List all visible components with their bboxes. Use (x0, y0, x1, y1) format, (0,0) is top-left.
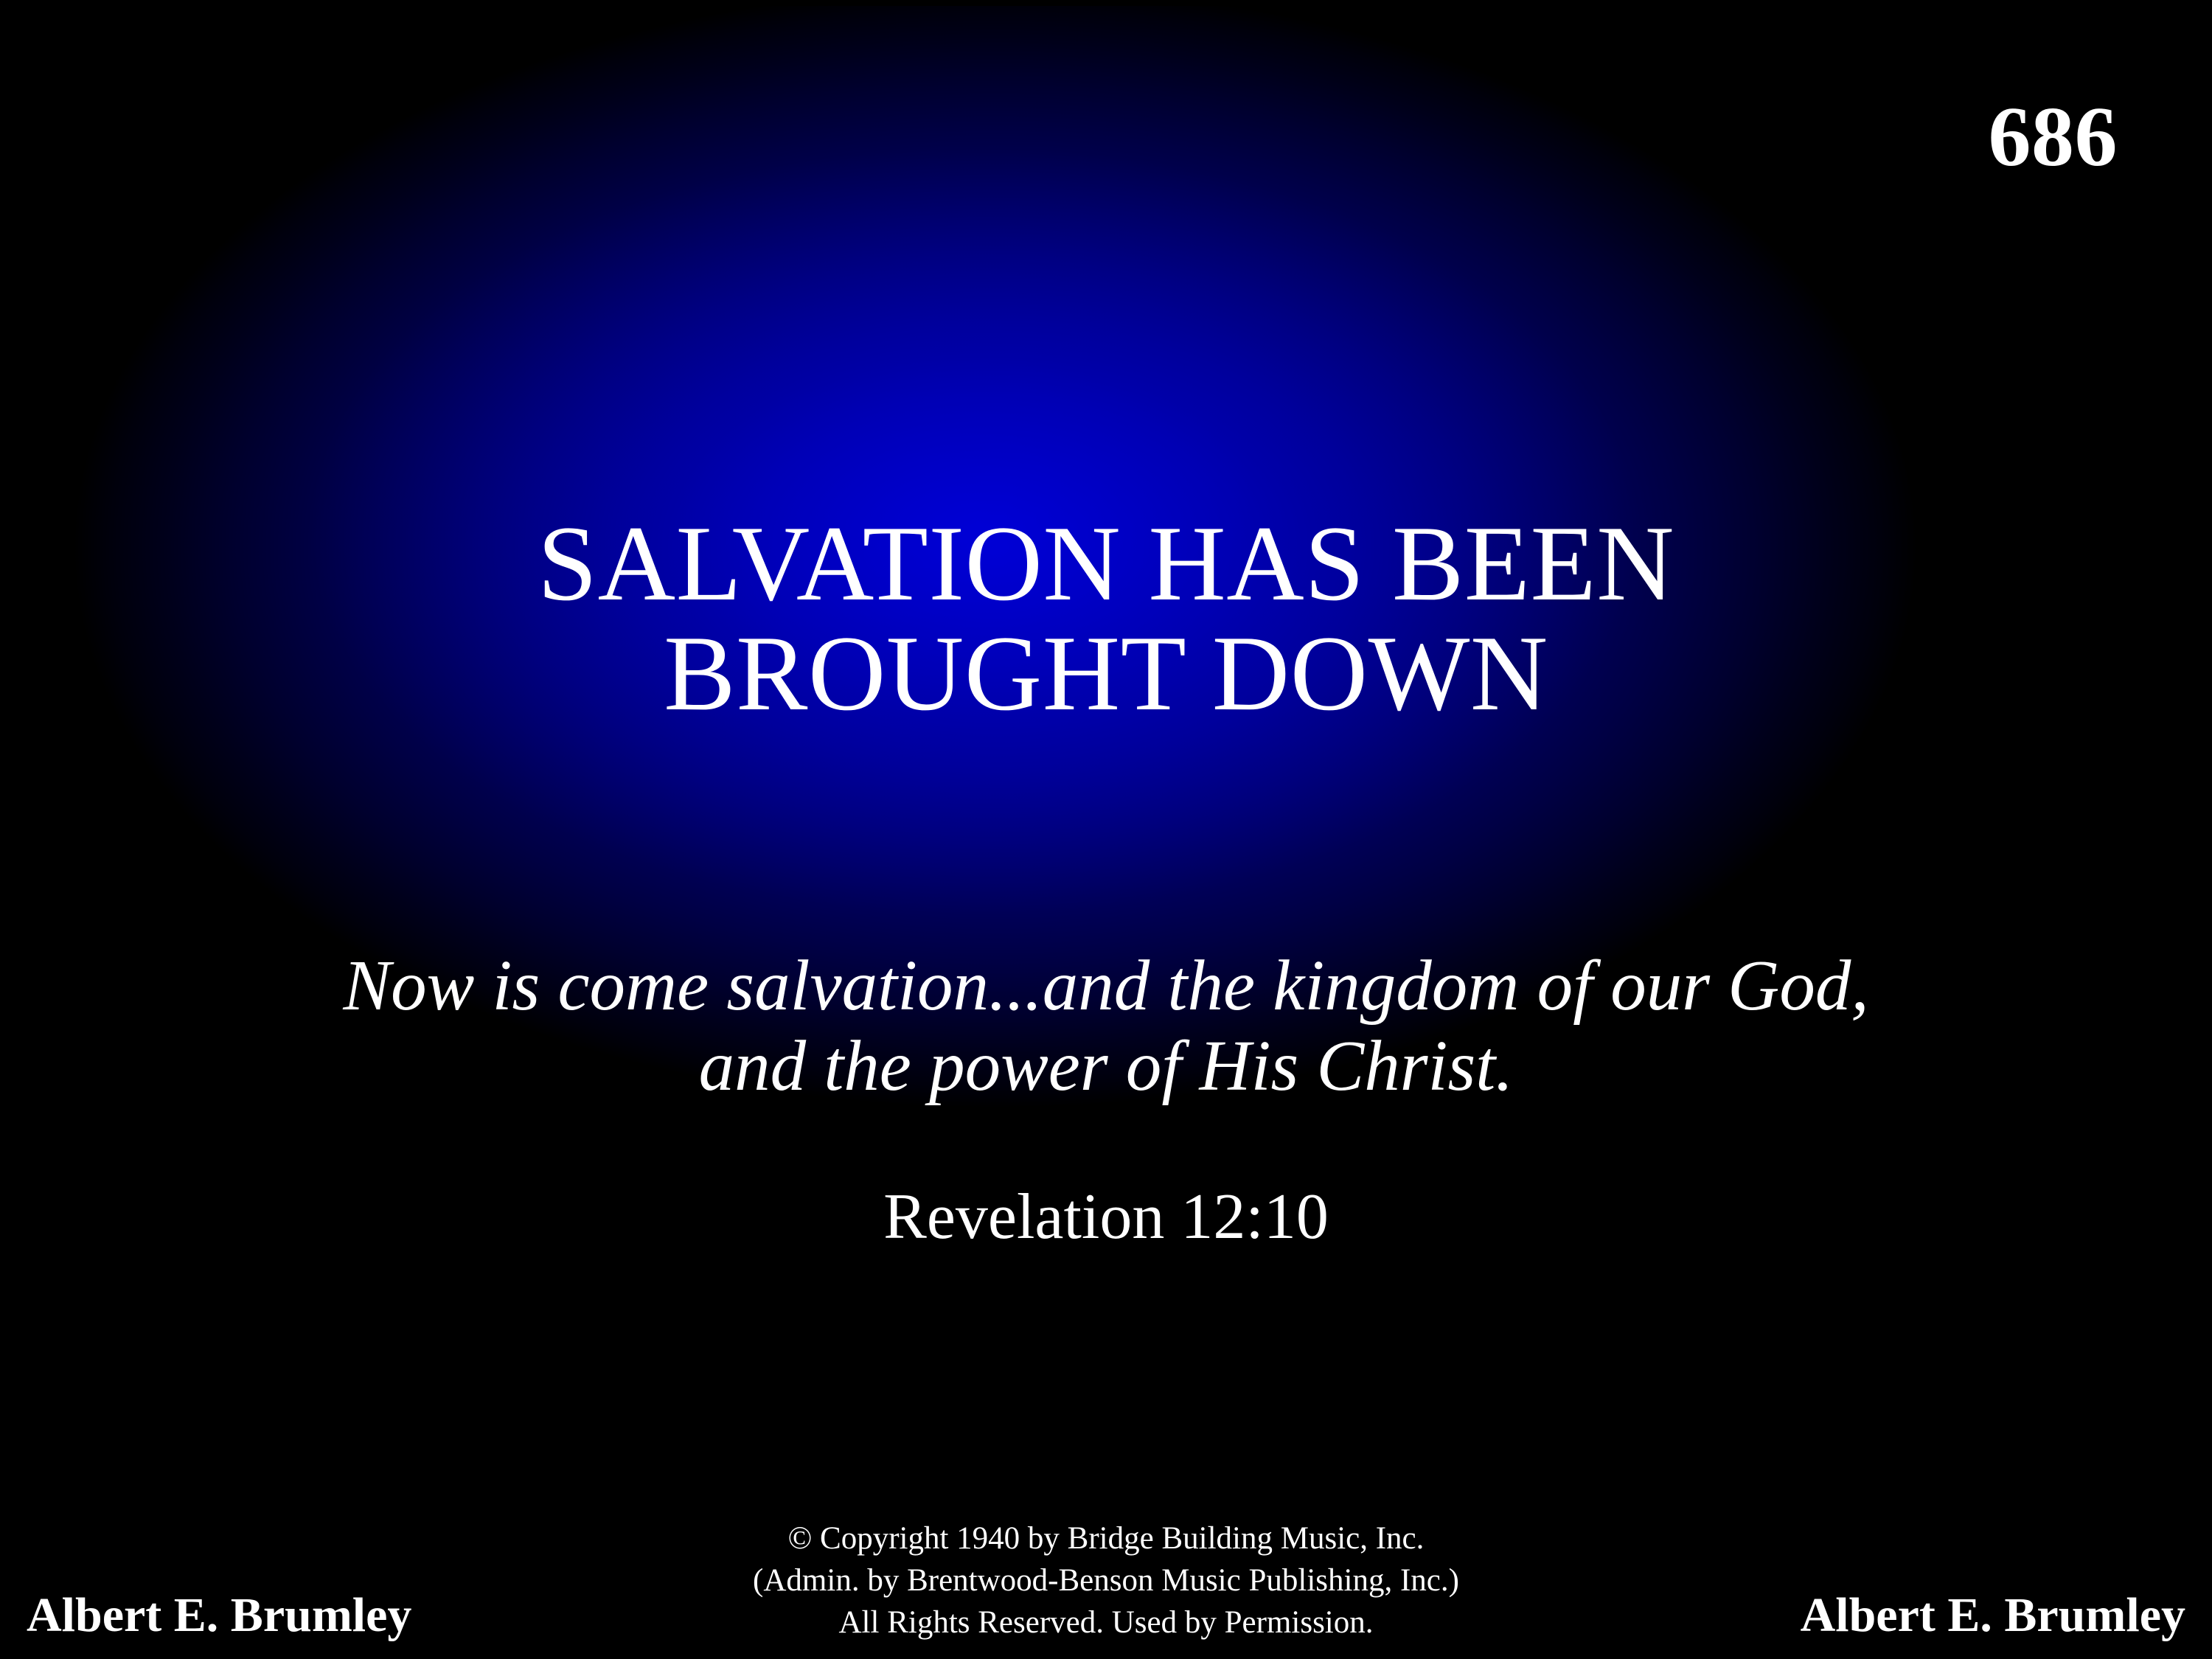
author-credit-right: Albert E. Brumley (1801, 1589, 2185, 1643)
background-gradient (0, 0, 2212, 1659)
copyright-line-1: © Copyright 1940 by Bridge Building Musi… (0, 1517, 2212, 1559)
author-credit-left: Albert E. Brumley (27, 1589, 411, 1643)
hymn-number: 686 (1989, 94, 2118, 180)
scripture-quote-line-1: Now is come salvation...and the kingdom … (0, 946, 2212, 1026)
scripture-quote-line-2: and the power of His Christ. (0, 1026, 2212, 1107)
slide-title: SALVATION HAS BEEN BROUGHT DOWN (0, 509, 2212, 728)
scripture-quote: Now is come salvation...and the kingdom … (0, 946, 2212, 1106)
hymn-slide: 686 SALVATION HAS BEEN BROUGHT DOWN Now … (0, 0, 2212, 1659)
scripture-reference: Revelation 12:10 (0, 1182, 2212, 1253)
slide-title-line-1: SALVATION HAS BEEN (0, 509, 2212, 619)
slide-title-line-2: BROUGHT DOWN (0, 619, 2212, 728)
